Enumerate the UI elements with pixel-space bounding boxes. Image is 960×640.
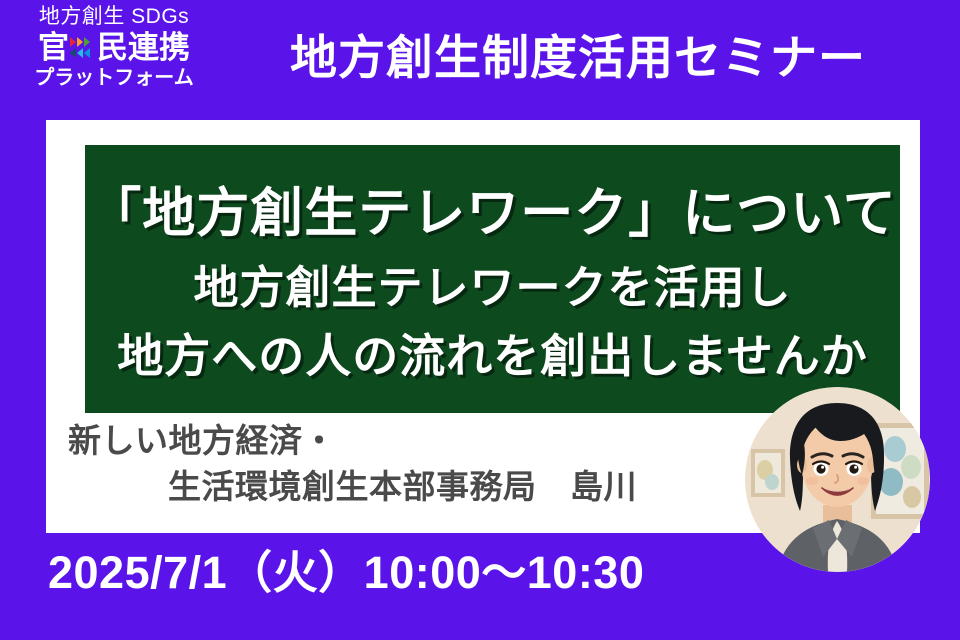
logo-line-platform: プラットフォーム bbox=[34, 68, 193, 88]
seminar-poster: 地方創生 SDGs 官 民連携 プラットフォーム 地方創生制度活用セミナー 「地… bbox=[0, 0, 960, 640]
speaker-affiliation: 新しい地方経済・ 生活環境創生本部事務局 島川 bbox=[68, 418, 768, 509]
logo-kanji-kan: 官 bbox=[38, 32, 69, 63]
avatar bbox=[745, 387, 930, 572]
chevrons-icon bbox=[70, 31, 96, 63]
logo-line-sdgs: 地方創生 SDGs bbox=[39, 6, 189, 27]
topic-banner-line-3: 地方への人の流れを創出しませんか bbox=[85, 333, 900, 379]
event-datetime: 2025/7/1（火）10:00〜10:30 bbox=[48, 550, 644, 595]
topic-banner: 「地方創生テレワーク」について 地方創生テレワークを活用し 地方への人の流れを創… bbox=[85, 145, 900, 413]
topic-banner-line-2: 地方創生テレワークを活用し bbox=[85, 265, 900, 310]
page-title: 地方創生制度活用セミナー bbox=[238, 26, 918, 90]
logo-kanji-minrenkei: 民連携 bbox=[97, 32, 190, 63]
platform-logo: 地方創生 SDGs 官 民連携 プラットフォーム bbox=[14, 6, 214, 110]
speaker-affiliation-line-1: 新しい地方経済・ bbox=[68, 418, 768, 464]
topic-banner-line-1: 「地方創生テレワーク」について bbox=[85, 187, 900, 240]
logo-line-kanmin: 官 民連携 bbox=[38, 31, 190, 63]
speaker-affiliation-line-2: 生活環境創生本部事務局 島川 bbox=[68, 464, 768, 510]
